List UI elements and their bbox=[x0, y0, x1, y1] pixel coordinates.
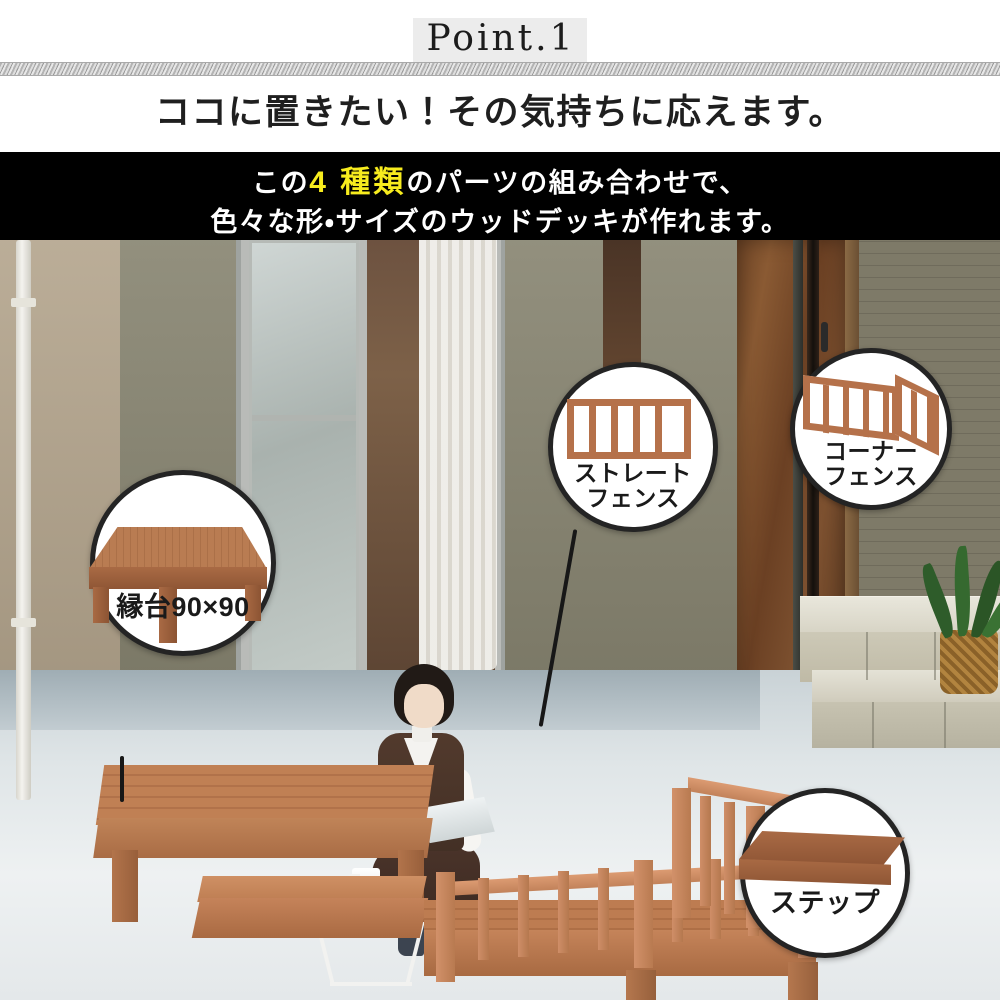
banner-line1-post: のパーツの組み合わせで、 bbox=[406, 168, 748, 198]
pipe-bracket bbox=[11, 298, 36, 307]
sliding-window-frame bbox=[236, 240, 505, 690]
banner-highlight: 4 種類 bbox=[309, 166, 406, 199]
header-section: Point.1 ココに置きたい！その気持ちに応えます。 bbox=[0, 0, 1000, 152]
fence-baluster bbox=[478, 878, 489, 960]
callout-corner-fence-label: コーナー フェンス bbox=[795, 439, 947, 489]
callout-corner-fence[interactable]: コーナー フェンス bbox=[790, 348, 952, 510]
concrete-step-lower-face bbox=[812, 702, 1000, 748]
step-seam bbox=[934, 632, 936, 680]
wood-step-face bbox=[192, 898, 429, 938]
fence-slat bbox=[843, 387, 849, 436]
door-handle-icon bbox=[821, 322, 828, 352]
fence-slat bbox=[883, 391, 889, 440]
callout-step-label: ステップ bbox=[745, 889, 905, 918]
fence-baluster bbox=[558, 871, 569, 953]
step-seam bbox=[872, 702, 874, 748]
banner-line-2: 色々な形・サイズのウッドデッキが作れます。 bbox=[0, 209, 1000, 236]
fence-post bbox=[672, 788, 691, 918]
fence-slat bbox=[911, 390, 917, 445]
fence-slat bbox=[655, 403, 662, 455]
fence-post bbox=[436, 872, 455, 982]
step-seam bbox=[866, 632, 868, 680]
window-mullion bbox=[252, 415, 356, 421]
fence-baluster bbox=[710, 859, 721, 939]
ground-cable bbox=[120, 756, 124, 802]
point-badge-wrap: Point.1 bbox=[0, 18, 1000, 62]
fence-baluster bbox=[518, 875, 529, 957]
scene-photo: 縁台90×90 ストレート フェンス bbox=[0, 240, 1000, 1000]
fence-baluster bbox=[700, 796, 711, 906]
deck-top-surface bbox=[89, 527, 267, 569]
lace-curtain bbox=[419, 240, 497, 670]
header-subtitle: ココに置きたい！その気持ちに応えます。 bbox=[0, 84, 1000, 135]
callout-straight-fence-label: ストレート フェンス bbox=[553, 461, 713, 511]
fence-post bbox=[634, 860, 653, 968]
step-seam bbox=[944, 702, 946, 748]
deck-side-apron bbox=[89, 567, 267, 589]
wall-base-strip bbox=[0, 670, 760, 730]
deck-platform-left-apron bbox=[93, 818, 433, 858]
woman-face bbox=[404, 684, 444, 728]
striped-divider bbox=[0, 62, 1000, 76]
fence-baluster bbox=[724, 802, 735, 914]
deck-leg bbox=[788, 962, 818, 1000]
black-banner: この4 種類のパーツの組み合わせで、 色々な形・サイズのウッドデッキが作れます。 bbox=[0, 152, 1000, 240]
fence-baluster bbox=[598, 868, 609, 950]
callout-endai[interactable]: 縁台90×90 bbox=[90, 470, 276, 656]
table-leg bbox=[330, 982, 412, 986]
callout-straight-fence[interactable]: ストレート フェンス bbox=[548, 362, 718, 532]
deck-leg bbox=[112, 850, 138, 922]
fence-slat bbox=[589, 403, 596, 455]
callout-endai-label: 縁台90×90 bbox=[95, 593, 271, 622]
product-infographic-page: Point.1 ココに置きたい！その気持ちに応えます。 この4 種類のパーツの組… bbox=[0, 0, 1000, 1000]
callout-step[interactable]: ステップ bbox=[740, 788, 910, 958]
pipe-bracket bbox=[11, 618, 36, 627]
deck-platform-left bbox=[96, 765, 434, 825]
banner-line1-pre: この bbox=[252, 168, 309, 198]
point-label: Point.1 bbox=[413, 18, 588, 62]
banner-line-1: この4 種類のパーツの組み合わせで、 bbox=[0, 168, 1000, 198]
fence-slat bbox=[633, 403, 640, 455]
plant-basket bbox=[940, 630, 998, 694]
downspout-pipe bbox=[16, 240, 31, 800]
fence-slat bbox=[823, 385, 829, 434]
fence-frame bbox=[567, 399, 691, 459]
deck-leg bbox=[626, 970, 656, 1000]
fence-slat bbox=[863, 389, 869, 438]
fence-slat bbox=[611, 403, 618, 455]
